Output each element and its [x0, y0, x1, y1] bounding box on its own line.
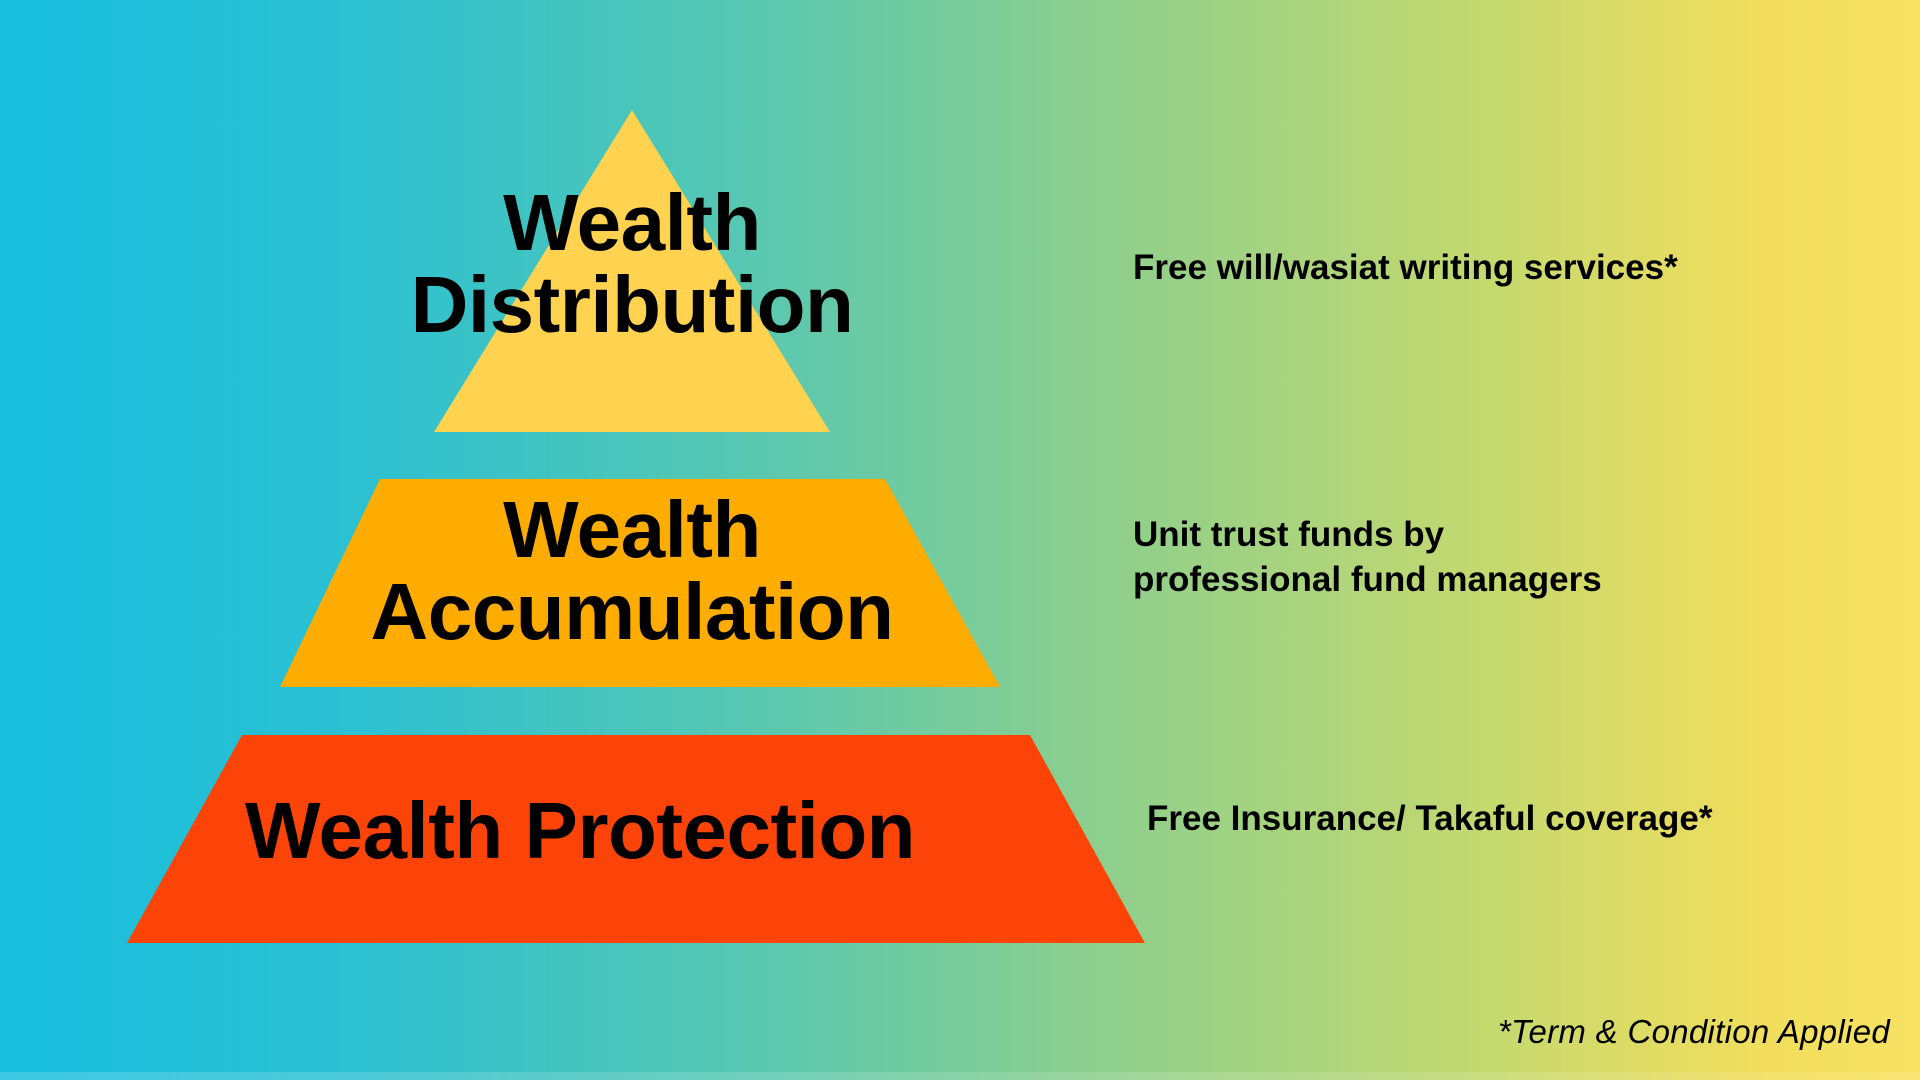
- tier-label-wealth-distribution: Wealth Distribution: [270, 182, 994, 345]
- infographic-canvas: Wealth Distribution Wealth Accumulation …: [0, 0, 1920, 1080]
- description-wealth-distribution: Free will/wasiat writing services*: [1133, 246, 1833, 291]
- footnote-terms: *Term & Condition Applied: [1498, 1013, 1890, 1051]
- description-wealth-protection: Free Insurance/ Takaful coverage*: [1147, 797, 1847, 842]
- tier-label-wealth-accumulation: Wealth Accumulation: [250, 489, 1014, 652]
- description-wealth-accumulation: Unit trust funds by professional fund ma…: [1133, 513, 1833, 603]
- tier-label-wealth-protection: Wealth Protection: [160, 790, 1000, 872]
